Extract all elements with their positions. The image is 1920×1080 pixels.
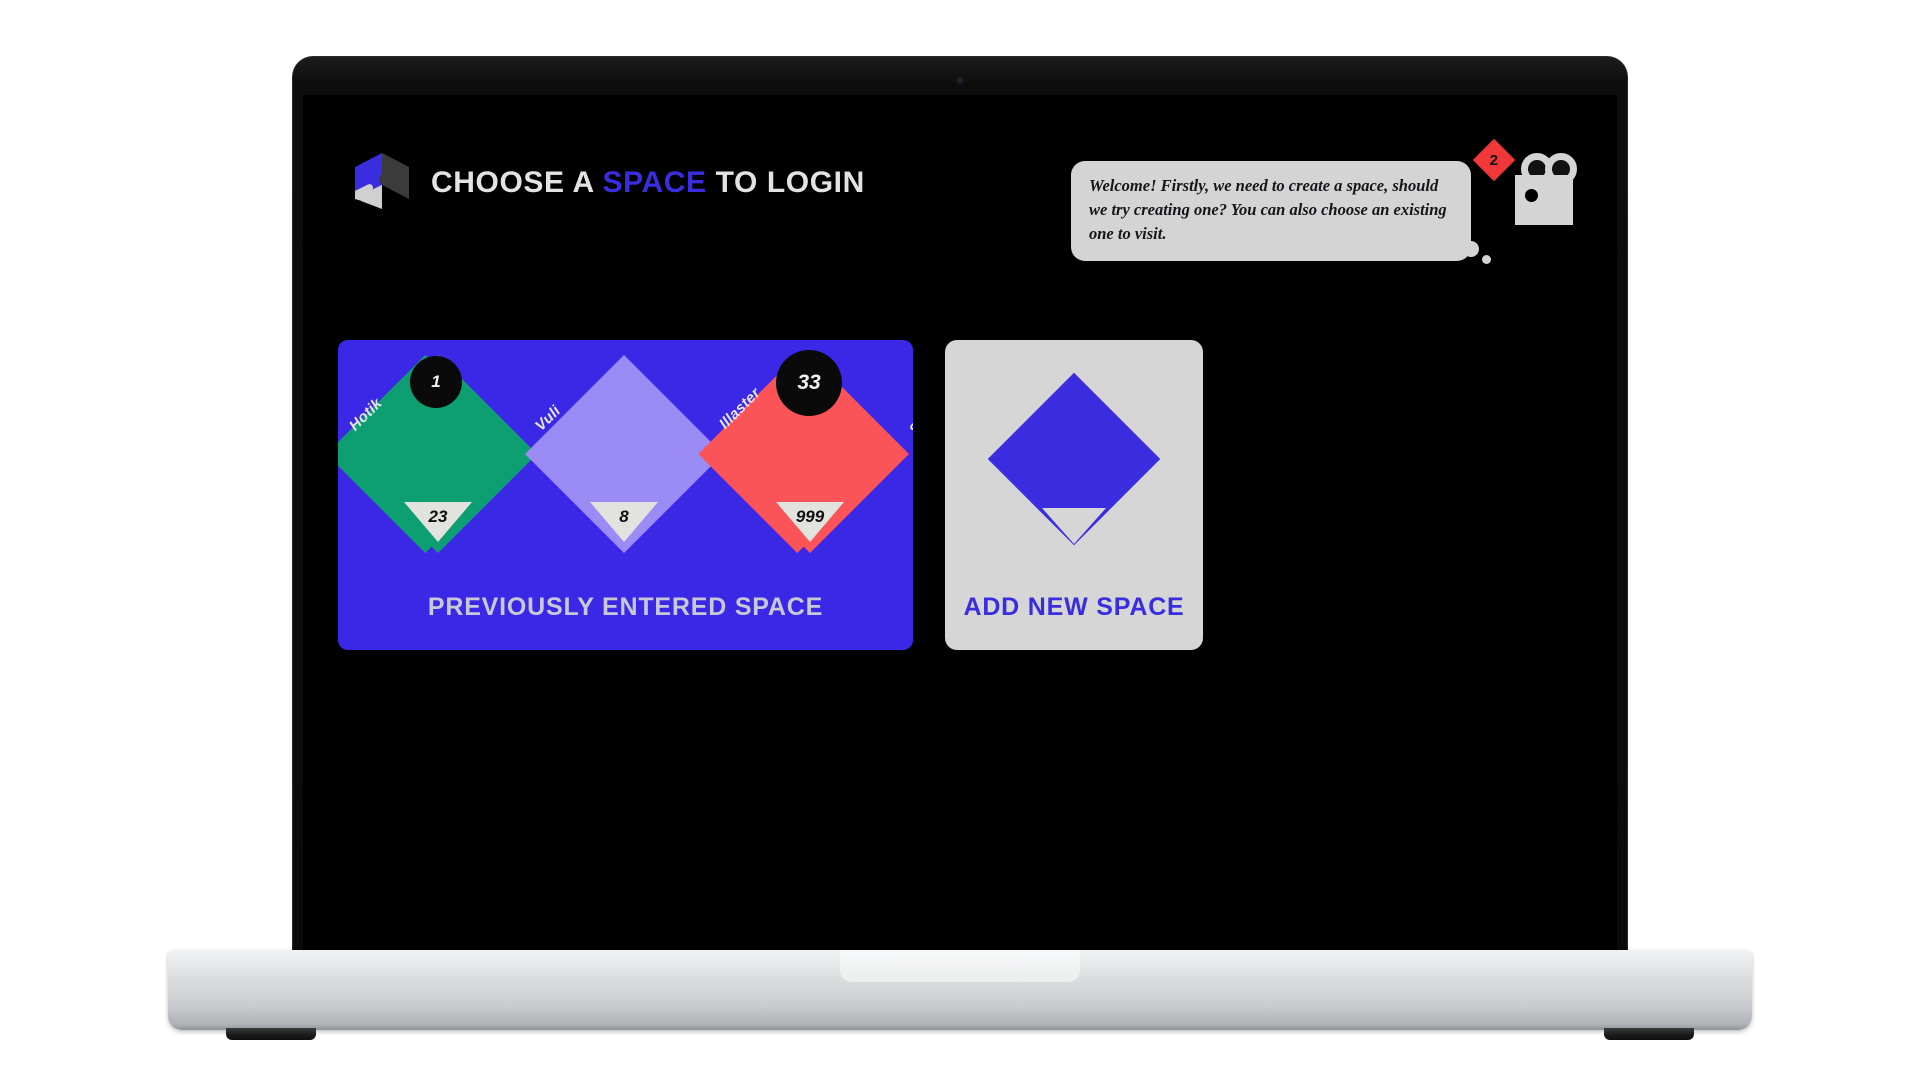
add-new-space-card[interactable]: ADD NEW SPACE (945, 340, 1203, 650)
app-viewport: CHOOSE A SPACE TO LOGIN Welcome! Firstly… (303, 95, 1617, 995)
tooltip-tail-small (1482, 255, 1491, 264)
assistant-tooltip-text: Welcome! Firstly, we need to create a sp… (1089, 174, 1453, 246)
assistant-notification-badge[interactable]: 2 (1473, 139, 1515, 181)
page-title: CHOOSE A SPACE TO LOGIN (431, 166, 865, 200)
assistant-avatar[interactable]: 2 (1515, 153, 1577, 225)
space-diamond-strip: 23 1 Hotik 8 Vuli (338, 362, 913, 567)
brand: CHOOSE A SPACE TO LOGIN (351, 151, 865, 215)
page-title-part1: CHOOSE A (431, 166, 603, 199)
page-title-accent: SPACE (603, 166, 707, 199)
laptop-foot-left (226, 1028, 316, 1040)
space-item-illaster[interactable]: 999 33 Illaster (720, 362, 900, 567)
assistant-eye-dot-icon (1525, 189, 1538, 202)
assistant-badge-count: 2 (1490, 152, 1498, 169)
puzzle-cube-logo-icon (351, 151, 413, 215)
cards-row: 23 1 Hotik 8 Vuli (338, 340, 1578, 650)
previously-entered-space-caption: PREVIOUSLY ENTERED SPACE (338, 593, 913, 622)
tooltip-tail-large (1463, 241, 1479, 257)
laptop-screen: CHOOSE A SPACE TO LOGIN Welcome! Firstly… (303, 95, 1617, 995)
space-label-space-221: Space 221 (906, 373, 913, 439)
space-count-hotik: 23 (429, 507, 448, 527)
space-item-vuli[interactable]: 8 Vuli (534, 362, 714, 567)
space-badge-hotik: 1 (410, 356, 462, 408)
add-space-triangle-cut-icon (1042, 508, 1106, 544)
laptop-foot-right (1604, 1028, 1694, 1040)
space-item-space-221[interactable]: Space 221 (906, 362, 913, 567)
laptop-mockup: CHOOSE A SPACE TO LOGIN Welcome! Firstly… (0, 0, 1920, 1080)
page-title-part2: TO LOGIN (707, 166, 865, 199)
laptop-lid: CHOOSE A SPACE TO LOGIN Welcome! Firstly… (293, 57, 1627, 957)
space-count-illaster: 999 (796, 507, 824, 527)
assistant-body-icon (1515, 175, 1573, 225)
space-badge-illaster: 33 (776, 350, 842, 416)
space-count-vuli: 8 (619, 507, 628, 527)
assistant-tooltip: Welcome! Firstly, we need to create a sp… (1071, 161, 1471, 261)
laptop-base-notch (840, 950, 1080, 982)
laptop-base (168, 950, 1752, 1030)
webcam-icon (957, 77, 964, 84)
add-new-space-caption: ADD NEW SPACE (945, 593, 1203, 622)
space-badge-value-illaster: 33 (797, 371, 820, 395)
app-header: CHOOSE A SPACE TO LOGIN Welcome! Firstly… (351, 143, 1577, 229)
space-item-hotik[interactable]: 23 1 Hotik (348, 362, 528, 567)
space-badge-value-hotik: 1 (431, 372, 440, 392)
previously-entered-space-card[interactable]: 23 1 Hotik 8 Vuli (338, 340, 913, 650)
